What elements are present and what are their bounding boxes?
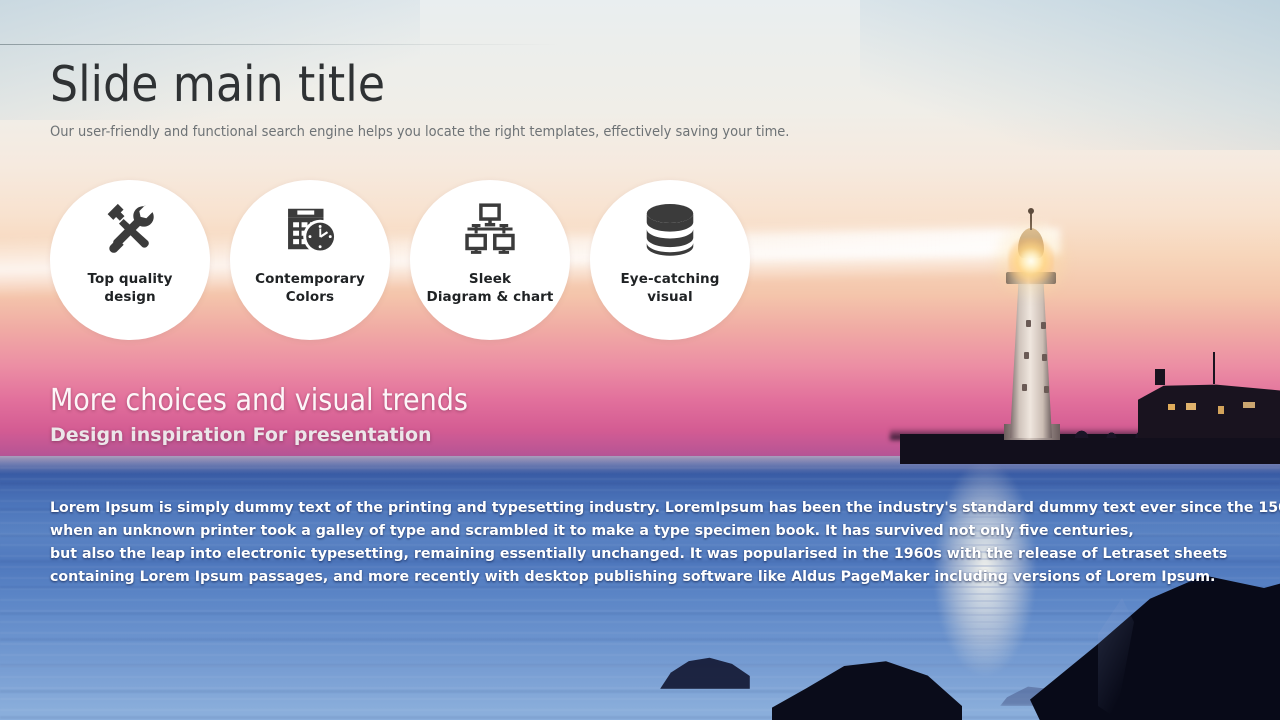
calendar-clock-icon bbox=[283, 200, 337, 258]
lighthouse-window bbox=[1022, 384, 1027, 391]
lighthouse-window bbox=[1024, 352, 1029, 359]
building-window bbox=[1218, 406, 1224, 414]
feature-circle-label: Contemporary Colors bbox=[247, 270, 373, 306]
page-title: Slide main title bbox=[50, 55, 789, 115]
presentation-slide: Slide main title Our user-friendly and f… bbox=[0, 0, 1280, 720]
lighthouse-window bbox=[1042, 354, 1047, 361]
building-chimney bbox=[1155, 369, 1165, 385]
page-subtitle: Our user-friendly and functional search … bbox=[50, 123, 789, 141]
top-divider bbox=[0, 44, 560, 45]
feature-circle-sleek-diagram-chart[interactable]: Sleek Diagram & chart bbox=[410, 180, 570, 340]
midsection-heading: More choices and visual trends bbox=[50, 382, 468, 420]
building-antenna bbox=[1213, 352, 1215, 384]
midsection: More choices and visual trends Design in… bbox=[50, 382, 468, 448]
lighthouse-finial bbox=[1028, 208, 1034, 214]
feature-circle-contemporary-colors[interactable]: Contemporary Colors bbox=[230, 180, 390, 340]
feature-circle-top-quality-design[interactable]: Top quality design bbox=[50, 180, 210, 340]
headland-silhouette bbox=[900, 434, 1280, 464]
feature-circle-eye-catching-visual[interactable]: Eye-catching visual bbox=[590, 180, 750, 340]
database-icon bbox=[645, 200, 695, 258]
lighthouse-window bbox=[1026, 320, 1031, 327]
network-diagram-icon bbox=[462, 200, 518, 258]
body-line: containing Lorem Ipsum passages, and mor… bbox=[50, 566, 1230, 589]
feature-circle-label: Top quality design bbox=[79, 270, 180, 306]
feature-circle-label: Eye-catching visual bbox=[612, 270, 727, 306]
sky-tint-right bbox=[860, 0, 1280, 150]
body-paragraph: Lorem Ipsum is simply dummy text of the … bbox=[50, 497, 1230, 589]
slide-header: Slide main title Our user-friendly and f… bbox=[50, 55, 789, 141]
tools-icon bbox=[102, 200, 158, 258]
building-window bbox=[1243, 402, 1255, 408]
shore-building bbox=[1138, 380, 1280, 438]
body-line: Lorem Ipsum is simply dummy text of the … bbox=[50, 497, 1230, 520]
feature-circle-list: Top quality design bbox=[50, 180, 770, 340]
body-line: but also the leap into electronic typese… bbox=[50, 543, 1230, 566]
feature-circle-label: Sleek Diagram & chart bbox=[419, 270, 562, 306]
lighthouse-lamp bbox=[1008, 238, 1054, 284]
lighthouse-window bbox=[1044, 386, 1049, 393]
midsection-subheading: Design inspiration For presentation bbox=[50, 422, 468, 448]
building-window bbox=[1186, 403, 1196, 410]
building-window bbox=[1168, 404, 1175, 410]
lighthouse-window bbox=[1041, 322, 1046, 329]
body-line: when an unknown printer took a galley of… bbox=[50, 520, 1230, 543]
